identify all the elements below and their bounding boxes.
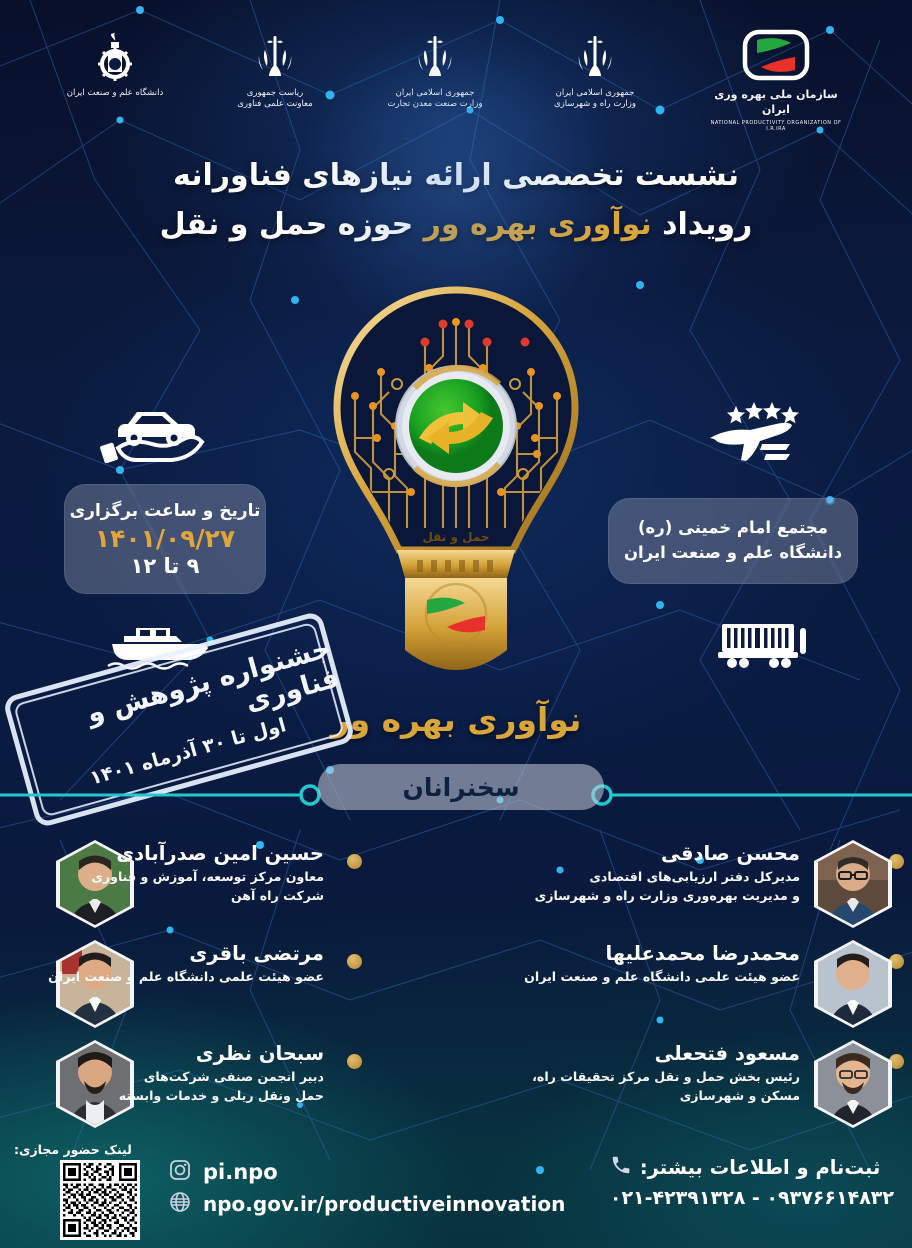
instagram-handle: pi.npo [203, 1160, 278, 1184]
speaker-role: رئیس بخش حمل و نقل مرکز تحقیقات راه،مسکن… [496, 1068, 800, 1105]
speaker-card: حسین امین صدرآبادی معاون مرکز توسعه، آمو… [14, 838, 454, 938]
date-time-pill: تاریخ و ساعت برگزاری ۱۴۰۱/۰۹/۲۷ ۹ تا ۱۲ [64, 484, 266, 594]
globe-icon [168, 1190, 192, 1218]
logo-university: دانشگاه علم و صنعت ایران [61, 26, 169, 99]
venue-line1: مجتمع امام خمینی (ره) [638, 516, 828, 541]
bullet-dot-icon [347, 854, 362, 869]
website-row[interactable]: npo.gov.ir/productiveinnovation [168, 1190, 565, 1218]
subtitle-prefix: رویداد [662, 207, 752, 242]
bullet-dot-icon [347, 1054, 362, 1069]
logo-presidency: ریاست جمهوریمعاونت علمی فناوری [221, 26, 329, 111]
speaker-role: معاون مرکز توسعه، آموزش و فناوریشرکت راه… [24, 868, 324, 905]
logo-caption: ریاست جمهوریمعاونت علمی فناوری [237, 88, 312, 111]
speaker-role: عضو هیئت علمی دانشگاه علم و صنعت ایران [496, 968, 800, 986]
phone-icon [610, 1154, 632, 1181]
speakers-heading-label: سخنرانان [402, 773, 519, 802]
speaker-name: سبحان نظری [24, 1042, 324, 1066]
date-label: تاریخ و ساعت برگزاری [70, 501, 261, 521]
footer: لینک حضور مجازی: [0, 1136, 912, 1248]
speaker-name: مرتضی باقری [24, 942, 324, 966]
gear-torch-emblem-icon [87, 26, 143, 84]
avatar [814, 840, 892, 928]
event-time: ۹ تا ۱۲ [131, 554, 200, 578]
logo-subcaption: NATIONAL PRODUCTIVITY ORGANIZATION OF I.… [701, 120, 851, 134]
instagram-icon [168, 1158, 192, 1186]
speakers-heading: سخنرانان [318, 764, 604, 810]
logo-caption: سازمان ملی بهره وری ایران [701, 88, 851, 118]
speakers-section: محسن صادقی مدیرکل دفتر ارزیابی‌های اقتصا… [0, 838, 912, 1138]
registration-block: ثبت‌نام و اطلاعات بیشتر: ۰۹۳۷۶۶۱۴۸۳۲ - ۰… [610, 1154, 894, 1209]
lightbulb-graphic: حمل و نقل [311, 278, 601, 708]
speaker-card: مسعود فتحعلی رئیس بخش حمل و نقل مرکز تحق… [464, 1038, 904, 1138]
bullet-dot-icon [347, 954, 362, 969]
speakers-column-left: حسین امین صدرآبادی معاون مرکز توسعه، آمو… [14, 838, 454, 1138]
speaker-name: حسین امین صدرآبادی [24, 842, 324, 866]
speaker-name: محسن صادقی [496, 842, 800, 866]
speaker-card: سبحان نظری دبیر انجمن صنفی شرکت‌هایحمل و… [14, 1038, 454, 1138]
speaker-card: محسن صادقی مدیرکل دفتر ارزیابی‌های اقتصا… [464, 838, 904, 938]
venue-line2: دانشگاه علم و صنعت ایران [624, 541, 842, 566]
avatar [814, 1040, 892, 1128]
logo-caption: دانشگاه علم و صنعت ایران [67, 88, 164, 99]
car-in-hand-icon [96, 394, 214, 470]
bulb-base-label: حمل و نقل [311, 530, 601, 544]
speaker-card: محمدرضا محمدعلیها عضو هیئت علمی دانشگاه … [464, 938, 904, 1038]
train-wagon-icon [712, 610, 818, 676]
speaker-role: دبیر انجمن صنفی شرکت‌هایحمل ونقل ریلی و … [24, 1068, 324, 1105]
iran-allah-emblem-icon [253, 26, 297, 84]
website-url: npo.gov.ir/productiveinnovation [203, 1192, 565, 1216]
speaker-role: مدیرکل دفتر ارزیابی‌های اقتصادیو مدیریت … [496, 868, 800, 905]
speaker-name: محمدرضا محمدعلیها [496, 942, 800, 966]
instagram-row[interactable]: pi.npo [168, 1158, 278, 1186]
avatar [814, 940, 892, 1028]
virtual-link-label: لینک حضور مجازی: [14, 1142, 132, 1157]
speaker-role: عضو هیئت علمی دانشگاه علم و صنعت ایران [24, 968, 324, 986]
speaker-card: مرتضی باقری عضو هیئت علمی دانشگاه علم و … [14, 938, 454, 1038]
venue-pill: مجتمع امام خمینی (ره) دانشگاه علم و صنعت… [608, 498, 858, 584]
npo-leaf-emblem-icon [737, 26, 815, 84]
registration-phones: ۰۹۳۷۶۶۱۴۸۳۲ - ۰۲۱-۴۲۳۹۱۳۲۸ [610, 1187, 894, 1209]
registration-title-row: ثبت‌نام و اطلاعات بیشتر: [610, 1154, 894, 1181]
event-poster: دانشگاه علم و صنعت ایران [0, 0, 912, 1248]
speaker-name: مسعود فتحعلی [496, 1042, 800, 1066]
airplane-stars-icon [700, 392, 820, 474]
qr-code[interactable] [60, 1160, 140, 1240]
event-date: ۱۴۰۱/۰۹/۲۷ [95, 524, 235, 553]
logo-npo: سازمان ملی بهره وری ایران NATIONAL PRODU… [701, 26, 851, 133]
registration-title: ثبت‌نام و اطلاعات بیشتر: [640, 1156, 880, 1179]
speakers-column-right: محسن صادقی مدیرکل دفتر ارزیابی‌های اقتصا… [464, 838, 904, 1138]
